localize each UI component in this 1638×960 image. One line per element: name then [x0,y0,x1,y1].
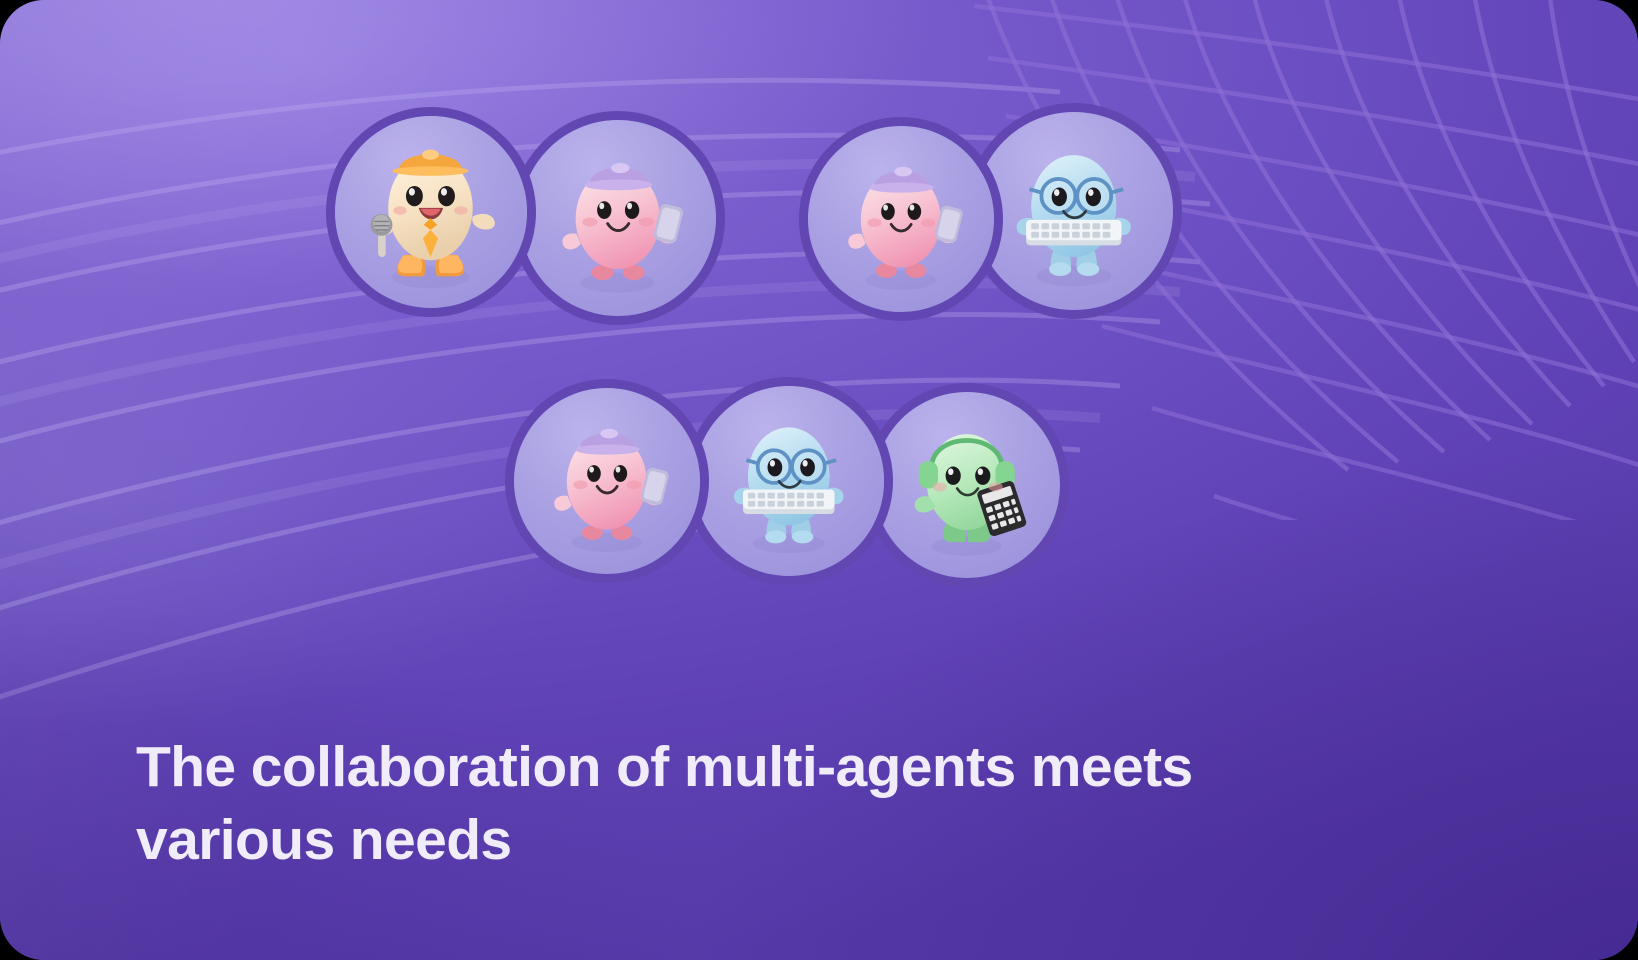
hero-card: The collaboration of multi-agents meets … [0,0,1638,960]
avatar-agent-host[interactable] [335,116,527,308]
page-title-line-1: The collaboration of multi-agents meets [136,731,1436,804]
agent-avatar-calculator-analyst-icon [874,392,1060,578]
avatar-agent-mobile-2[interactable] [808,126,994,312]
page-title-line-2: various needs [136,804,1436,877]
agent-avatar-keyboard-coder-icon [694,386,884,576]
agent-avatar-keyboard-coder-icon [975,112,1173,310]
avatar-agent-coder[interactable] [975,112,1173,310]
agent-avatar-microphone-host-icon [335,116,527,308]
agent-avatar-phone-pink-icon [514,388,700,574]
avatar-agent-mobile[interactable] [520,120,716,316]
avatar-agent-analyst[interactable] [874,392,1060,578]
agent-avatar-phone-pink-icon [808,126,994,312]
avatar-agent-coder-2[interactable] [694,386,884,576]
page-title: The collaboration of multi-agents meets … [136,731,1436,877]
avatar-agent-mobile-3[interactable] [514,388,700,574]
agent-avatar-phone-pink-icon [520,120,716,316]
